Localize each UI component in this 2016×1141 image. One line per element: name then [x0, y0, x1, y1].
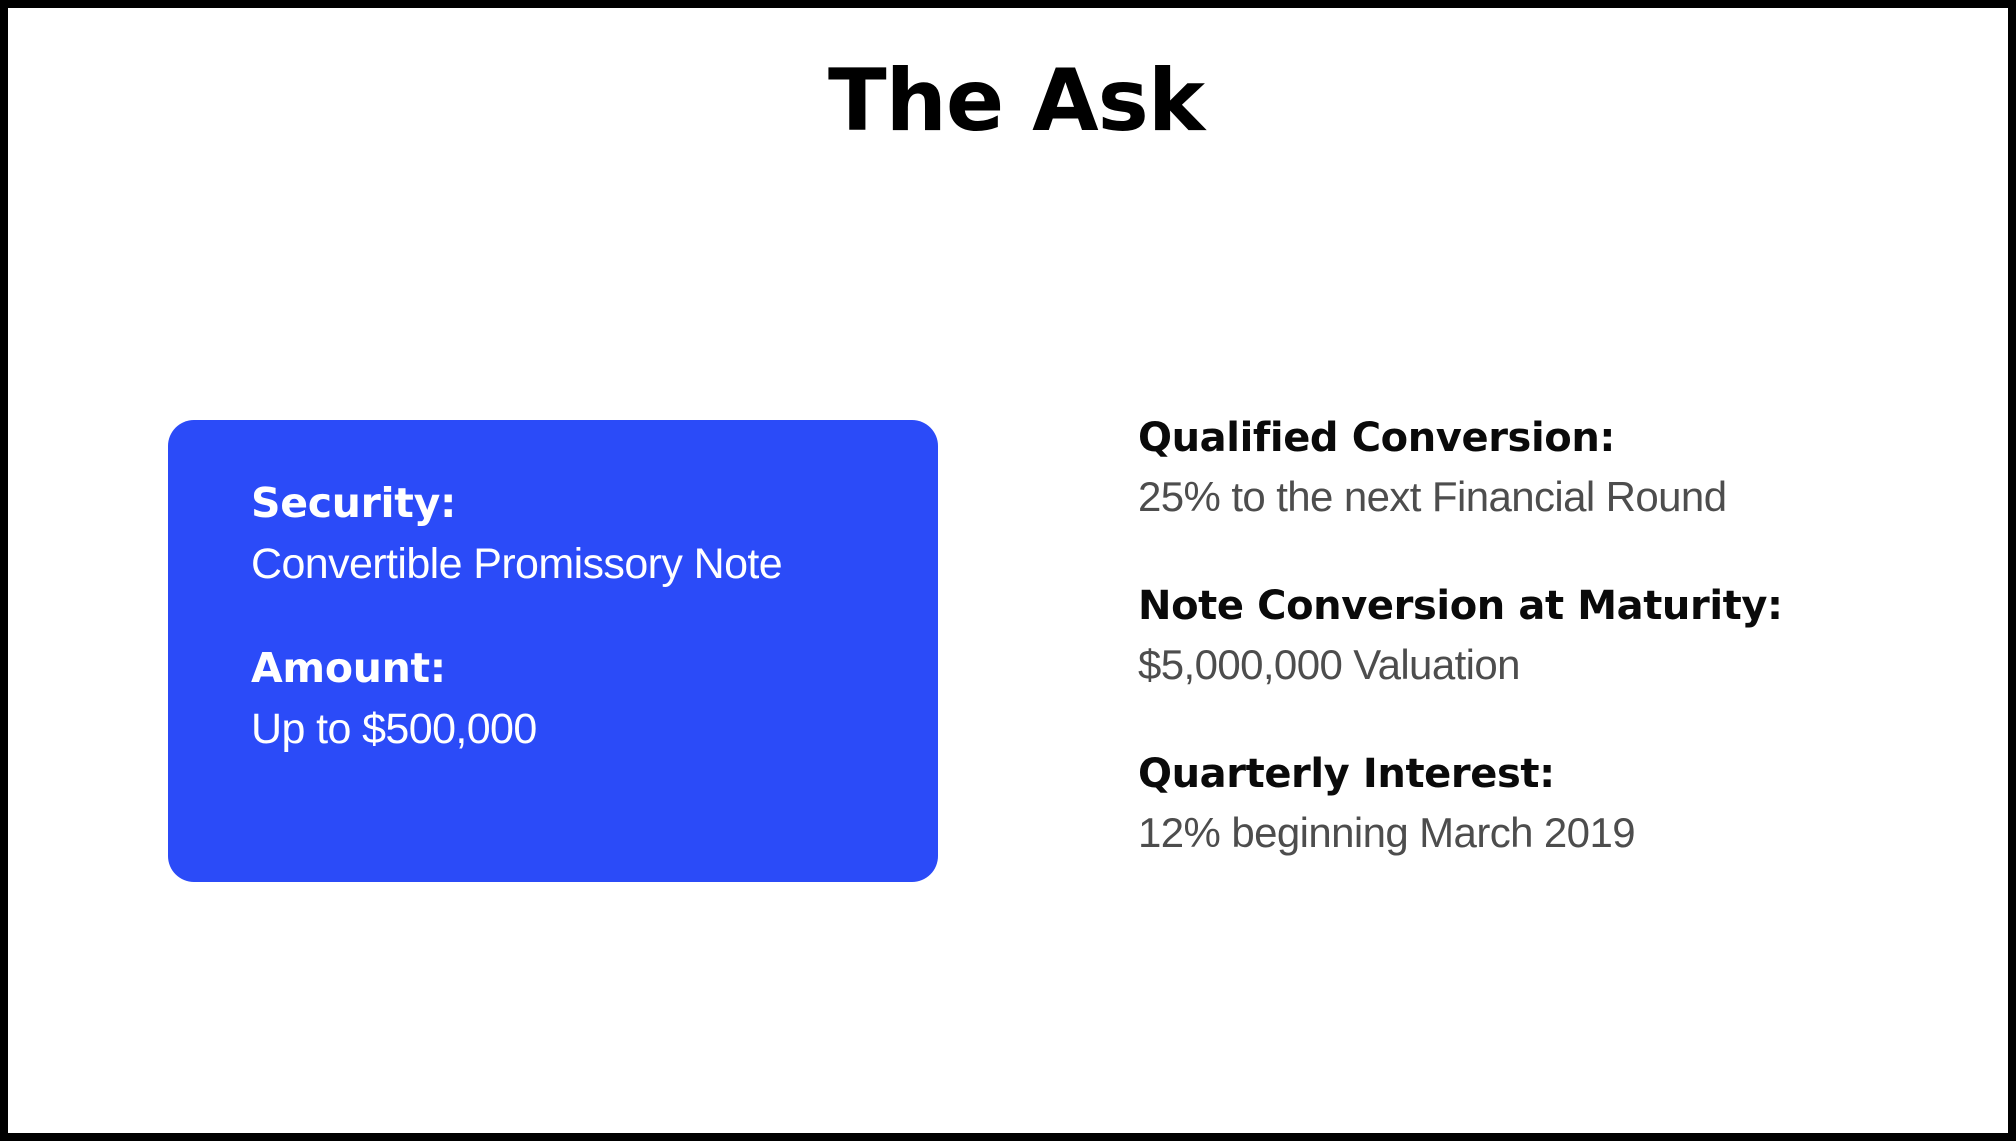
term-label-note-conversion-at-maturity: Note Conversion at Maturity: — [1138, 582, 1958, 632]
card-block-amount: Amount: Up to $500,000 — [251, 643, 938, 756]
card-label-amount: Amount: — [251, 643, 938, 694]
ask-summary-card: Security: Convertible Promissory Note Am… — [168, 420, 938, 882]
term-value-note-conversion-at-maturity: $5,000,000 Valuation — [1138, 640, 1958, 690]
card-value-security: Convertible Promissory Note — [251, 539, 938, 591]
term-label-qualified-conversion: Qualified Conversion: — [1138, 414, 1958, 464]
term-item-qualified-conversion: Qualified Conversion: 25% to the next Fi… — [1138, 414, 1958, 522]
term-value-qualified-conversion: 25% to the next Financial Round — [1138, 472, 1958, 522]
card-block-security: Security: Convertible Promissory Note — [251, 478, 938, 591]
term-label-quarterly-interest: Quarterly Interest: — [1138, 750, 1958, 800]
term-item-note-conversion-at-maturity: Note Conversion at Maturity: $5,000,000 … — [1138, 582, 1958, 690]
term-value-quarterly-interest: 12% beginning March 2019 — [1138, 808, 1958, 858]
slide-the-ask: The Ask Security: Convertible Promissory… — [0, 0, 2016, 1141]
term-item-quarterly-interest: Quarterly Interest: 12% beginning March … — [1138, 750, 1958, 858]
card-value-amount: Up to $500,000 — [251, 704, 938, 756]
card-label-security: Security: — [251, 478, 938, 529]
slide-content: Security: Convertible Promissory Note Am… — [8, 8, 2016, 1141]
terms-list: Qualified Conversion: 25% to the next Fi… — [1138, 414, 1958, 858]
